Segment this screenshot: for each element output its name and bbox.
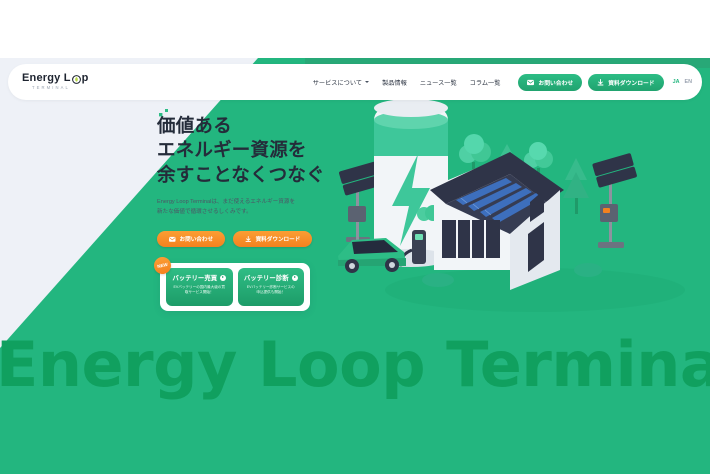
news-highlight-card: NEW バッテリー売買 EVバッテリーの国内最大級の買 取サービス開始！ バッテ… bbox=[160, 263, 310, 311]
hero-contact-label: お問い合わせ bbox=[180, 235, 214, 243]
mail-icon bbox=[527, 79, 534, 86]
header-contact-label: お問い合わせ bbox=[538, 78, 573, 87]
nav-link-list: サービスについて 製品情報 ニュース一覧 コラム一覧 bbox=[313, 78, 501, 87]
download-icon bbox=[245, 236, 252, 243]
header-download-button[interactable]: 資料ダウンロード bbox=[588, 74, 663, 91]
logo-text-suffix: p bbox=[82, 73, 89, 84]
hero-download-button[interactable]: 資料ダウンロード bbox=[233, 231, 312, 247]
site-header: Energy L p Terminal サービスについて bbox=[8, 64, 702, 100]
lang-option-en[interactable]: EN bbox=[685, 79, 693, 85]
nav-item-services-label: サービスについて bbox=[313, 78, 362, 87]
news-item-battery-diagnosis[interactable]: バッテリー診断 EVバッテリー診断サービスの 申込提供も開始！ bbox=[238, 268, 305, 306]
arrow-right-icon bbox=[292, 275, 298, 281]
site-logo[interactable]: Energy L p Terminal bbox=[22, 73, 89, 90]
news-sub-line-2: 申込提供も開始！ bbox=[243, 290, 300, 295]
nav-item-products-label: 製品情報 bbox=[382, 78, 407, 87]
news-item-title-row: バッテリー売買 bbox=[171, 273, 228, 282]
news-item-battery-trade[interactable]: バッテリー売買 EVバッテリーの国内最大級の買 取サービス開始！ bbox=[166, 268, 233, 306]
hero-subcopy: Energy Loop Terminalは、まだ使えるエネルギー資源を 新たな価… bbox=[157, 198, 357, 218]
arrow-right-icon bbox=[220, 275, 226, 281]
nav-item-products[interactable]: 製品情報 bbox=[382, 78, 407, 87]
header-contact-button[interactable]: お問い合わせ bbox=[518, 74, 582, 91]
house-with-solar-panels bbox=[430, 152, 564, 290]
header-download-label: 資料ダウンロード bbox=[608, 78, 654, 87]
news-item-title-row: バッテリー診断 bbox=[243, 273, 300, 282]
mail-icon bbox=[169, 236, 176, 243]
nav-item-news-label: ニュース一覧 bbox=[420, 78, 457, 87]
logo-text-row: Energy L p bbox=[22, 73, 89, 84]
subcopy-line-1: Energy Loop Terminalは、まだ使えるエネルギー資源を bbox=[157, 198, 357, 208]
news-item-subtext: EVバッテリーの国内最大級の買 取サービス開始！ bbox=[171, 285, 228, 296]
solar-post-right bbox=[592, 153, 637, 248]
page-title: 価値ある エネルギー資源を 余すことなくつなぐ bbox=[157, 114, 357, 187]
page-root: 価値ある エネルギー資源を 余すことなくつなぐ Energy Loop Term… bbox=[0, 0, 710, 474]
decorative-dots-icon bbox=[159, 106, 173, 124]
news-sub-line-2: 取サービス開始！ bbox=[171, 290, 228, 295]
lang-option-ja[interactable]: JA bbox=[673, 79, 680, 85]
brand-wordmark: Energy Loop Terminal bbox=[0, 334, 710, 396]
news-item-subtext: EVバッテリー診断サービスの 申込提供も開始！ bbox=[243, 285, 300, 296]
hero-bottom-green-block bbox=[0, 394, 710, 474]
hero-contact-button[interactable]: お問い合わせ bbox=[157, 231, 225, 247]
news-item-title: バッテリー売買 bbox=[172, 273, 217, 282]
news-item-title: バッテリー診断 bbox=[244, 273, 289, 282]
subcopy-line-2: 新たな価値で循環させるしくみです。 bbox=[157, 208, 357, 218]
headline-line-1: 価値ある bbox=[157, 114, 357, 138]
leaf-icon bbox=[72, 75, 81, 84]
hero-stage: 価値ある エネルギー資源を 余すことなくつなぐ Energy Loop Term… bbox=[0, 58, 710, 474]
main-navigation: サービスについて 製品情報 ニュース一覧 コラム一覧 bbox=[313, 74, 692, 91]
language-switcher: JA EN bbox=[673, 79, 692, 85]
nav-item-column-label: コラム一覧 bbox=[470, 78, 501, 87]
hero-download-label: 資料ダウンロード bbox=[256, 235, 301, 243]
headline-line-3: 余すことなくつなぐ bbox=[157, 163, 357, 187]
download-icon bbox=[597, 79, 604, 86]
logo-tagline: Terminal bbox=[32, 86, 89, 90]
nav-item-news[interactable]: ニュース一覧 bbox=[420, 78, 457, 87]
chevron-down-icon bbox=[365, 81, 369, 83]
hero-illustration bbox=[330, 94, 710, 324]
hero-copy: 価値ある エネルギー資源を 余すことなくつなぐ Energy Loop Term… bbox=[157, 114, 357, 247]
nav-item-services[interactable]: サービスについて bbox=[313, 78, 369, 87]
nav-item-column[interactable]: コラム一覧 bbox=[470, 78, 501, 87]
headline-line-2: エネルギー資源を bbox=[157, 138, 357, 162]
logo-text-prefix: Energy L bbox=[22, 73, 71, 84]
hero-cta-row: お問い合わせ 資料ダウンロード bbox=[157, 231, 357, 247]
